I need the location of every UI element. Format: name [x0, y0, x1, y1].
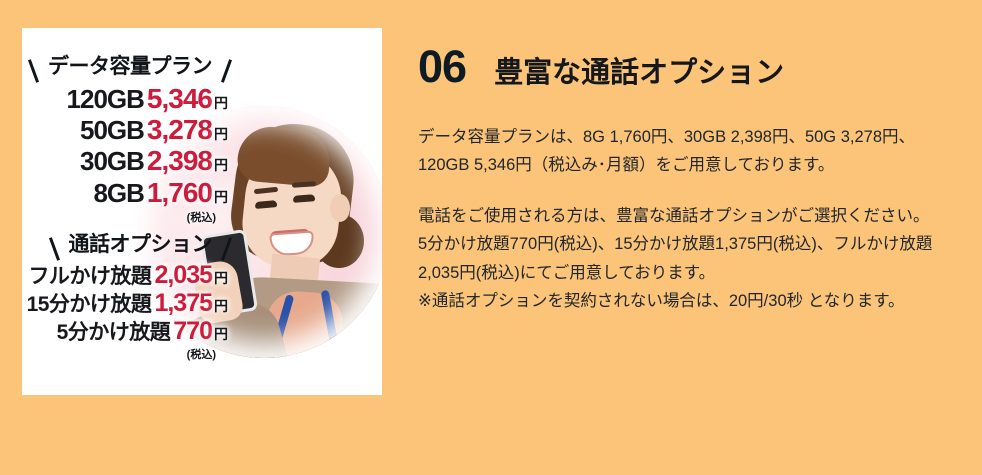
plan-name: 5分かけ放題	[57, 321, 171, 344]
content-column: 06 豊富な通話オプション データ容量プランは、8G 1,760円、30GB 2…	[418, 44, 964, 315]
call-option-tax-note: (税込)	[22, 346, 228, 362]
section-number: 06	[418, 44, 466, 89]
data-plan-row: 120GB5,346円	[22, 84, 228, 114]
call-option-block: 通話オプション フルかけ放題2,035円 15分かけ放題1,375円 5分かけ放…	[22, 228, 228, 362]
page-title: 豊富な通話オプション	[494, 59, 784, 88]
data-plan-tax-note: (税込)	[22, 209, 228, 225]
paragraph-call-intro: 電話をご使用される方は、豊富な通話オプションがご選択ください。	[418, 202, 964, 230]
data-plan-block: データ容量プラン 120GB5,346円 50GB3,278円 30GB2,39…	[22, 50, 228, 225]
yen-unit: 円	[214, 95, 228, 111]
plan-price: 2,398	[147, 145, 212, 176]
paragraph-call-note: ※通話オプションを契約されない場合は、20円/30秒 となります。	[418, 287, 964, 315]
yen-unit: 円	[214, 157, 228, 173]
call-option-row: 5分かけ放題770円	[22, 318, 228, 345]
paragraph-call-prices: 5分かけ放題770円(税込)、15分かけ放題1,375円(税込)、フルかけ放題2…	[418, 230, 964, 287]
data-plan-heading: データ容量プラン	[32, 50, 228, 80]
slash-left-decoration	[48, 237, 59, 261]
plan-price: 2,035	[154, 261, 212, 289]
data-plan-heading-label: データ容量プラン	[48, 55, 212, 78]
call-option-heading: 通話オプション	[53, 228, 229, 258]
plan-price: 1,375	[154, 289, 212, 317]
call-option-row: フルかけ放題2,035円	[22, 262, 228, 289]
yen-unit: 円	[214, 189, 228, 205]
plan-name: フルかけ放題	[28, 265, 151, 288]
yen-unit: 円	[214, 298, 228, 314]
plan-name: 15分かけ放題	[27, 293, 152, 316]
promo-card: データ容量プラン 120GB5,346円 50GB3,278円 30GB2,39…	[22, 28, 382, 395]
data-plan-row: 50GB3,278円	[22, 115, 228, 145]
plan-name: 8GB	[93, 178, 143, 208]
data-plan-row: 8GB1,760円	[22, 178, 228, 208]
plan-name: 30GB	[80, 146, 144, 176]
slash-right-decoration	[221, 59, 232, 83]
plan-price: 1,760	[147, 177, 212, 208]
yen-unit: 円	[214, 270, 228, 286]
ear-shape	[330, 194, 350, 222]
page-root: データ容量プラン 120GB5,346円 50GB3,278円 30GB2,39…	[0, 0, 982, 475]
plan-price: 770	[173, 317, 212, 345]
data-plan-row: 30GB2,398円	[22, 146, 228, 176]
plan-price: 5,346	[147, 83, 212, 114]
section-headline: 06 豊富な通話オプション	[418, 44, 964, 89]
paragraph-data-plan: データ容量プランは、8G 1,760円、30GB 2,398円、50G 3,27…	[418, 123, 964, 180]
plan-name: 50GB	[80, 115, 144, 145]
call-option-heading-label: 通話オプション	[69, 233, 213, 256]
yen-unit: 円	[214, 126, 228, 142]
plan-name: 120GB	[67, 84, 144, 114]
call-option-row: 15分かけ放題1,375円	[22, 290, 228, 317]
slash-left-decoration	[28, 59, 39, 83]
plan-price: 3,278	[147, 114, 212, 145]
yen-unit: 円	[214, 326, 228, 342]
